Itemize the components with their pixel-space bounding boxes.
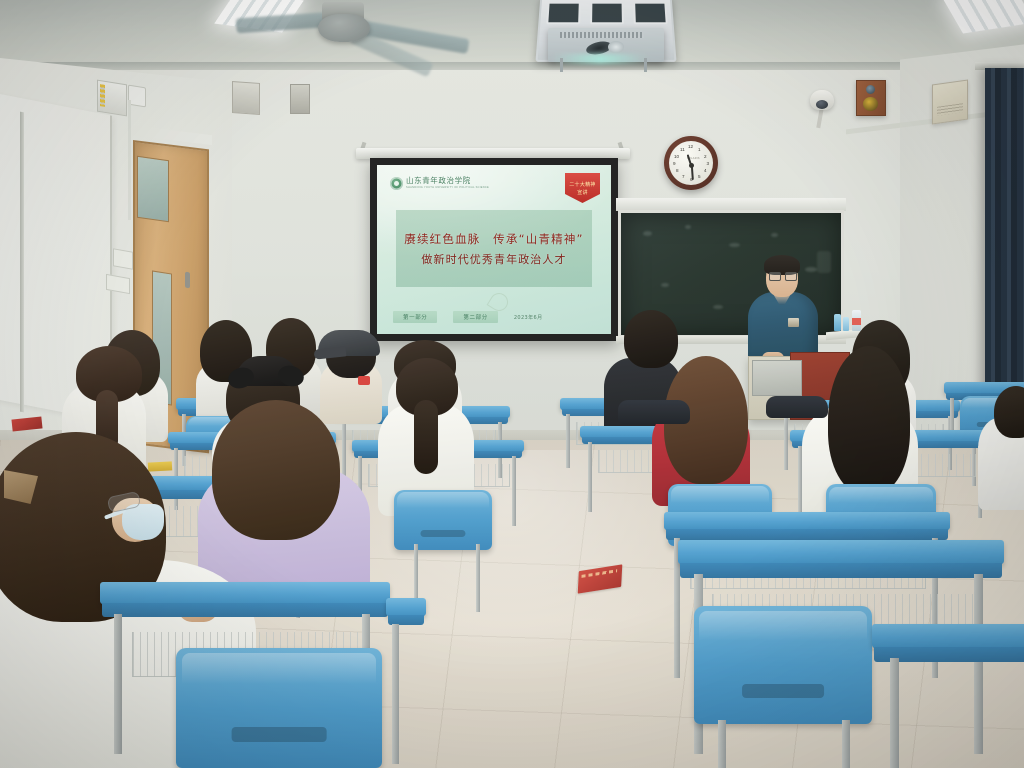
- water-bottle: [843, 317, 849, 331]
- desk: [872, 624, 1024, 682]
- classroom-photo: 山东青年政治学院 SHANDONG YOUTH UNIVERSITY OF PO…: [0, 0, 1024, 768]
- whiteboard-rail: [20, 112, 24, 413]
- wall-speaker-icon: [290, 84, 310, 114]
- chair-foreground: [176, 648, 382, 768]
- wall-speaker-icon: [232, 81, 260, 115]
- projector-vent: [560, 32, 644, 38]
- slide-footer-tag-2: 第二部分: [453, 311, 497, 323]
- wall-clock: 12 1 2 3 4 5 6 7 8 9 10 11 POLARIS: [664, 136, 718, 190]
- backpack: [618, 400, 690, 424]
- projector-mount-rod: [560, 58, 563, 72]
- water-bottle: [834, 314, 841, 331]
- wall-speaker-icon: [856, 80, 886, 116]
- air-conditioner-vent-icon: [932, 79, 968, 124]
- institution-logo: 山东青年政治学院 SHANDONG YOUTH UNIVERSITY OF PO…: [390, 177, 489, 190]
- speaker-woofer: [863, 97, 878, 111]
- slide-footer-tag-1: 第一部分: [393, 311, 437, 323]
- security-camera-icon: [810, 90, 834, 110]
- slide-title-panel: 赓续红色血脉 传承“山青精神” 做新时代优秀青年政治人才: [396, 210, 592, 287]
- chair-foreground: [694, 606, 872, 724]
- speaker-tweeter: [866, 85, 875, 94]
- slide-footer-date: 2023年6月: [514, 314, 543, 321]
- ribbon-line-1: 二十大精神: [569, 181, 596, 188]
- blackout-curtain[interactable]: [985, 68, 1024, 398]
- clock-center-pin: [689, 163, 694, 168]
- ceiling-fan-icon: [318, 14, 370, 42]
- slide-title-line-2: 做新时代优秀青年政治人才: [421, 251, 566, 267]
- laptop: [752, 360, 802, 396]
- ponytail: [414, 400, 438, 474]
- lecturer-badge: [788, 318, 799, 327]
- projector-beam-glow: [552, 54, 648, 64]
- desk: [386, 598, 426, 628]
- ribbon-line-2: 宣讲: [577, 189, 588, 196]
- eyeglasses-icon: [769, 272, 795, 279]
- water-bottle: [852, 310, 861, 331]
- logo-text-en: SHANDONG YOUTH UNIVERSITY OF POLITICAL S…: [406, 186, 489, 189]
- presentation-slide: 山东青年政治学院 SHANDONG YOUTH UNIVERSITY OF PO…: [377, 165, 611, 334]
- slide-title-line-1: 赓续红色血脉 传承“山青精神”: [404, 231, 583, 247]
- badge-icon: [358, 376, 370, 385]
- door-handle[interactable]: [185, 272, 190, 289]
- clock-face: 12 1 2 3 4 5 6 7 8 9 10 11 POLARIS: [669, 141, 713, 185]
- projection-screen: 山东青年政治学院 SHANDONG YOUTH UNIVERSITY OF PO…: [370, 158, 618, 341]
- desk: [100, 582, 390, 640]
- chair: [394, 490, 492, 550]
- electrical-box: [97, 80, 127, 117]
- university-seal-icon: [390, 177, 403, 190]
- projector-mount-rod: [644, 58, 647, 72]
- light-switch[interactable]: [113, 248, 133, 270]
- projector-lens-ring: [608, 41, 624, 53]
- logo-text-cn: 山东青年政治学院: [406, 177, 489, 185]
- desk: [678, 540, 1004, 602]
- backpack: [766, 396, 828, 418]
- slide-footer: 第一部分 第二部分 2023年6月: [393, 311, 598, 323]
- door-glass-panel: [137, 156, 169, 222]
- cable-conduit: [128, 100, 131, 220]
- paper-on-desk: [148, 461, 172, 471]
- face-mask-icon: [122, 504, 164, 540]
